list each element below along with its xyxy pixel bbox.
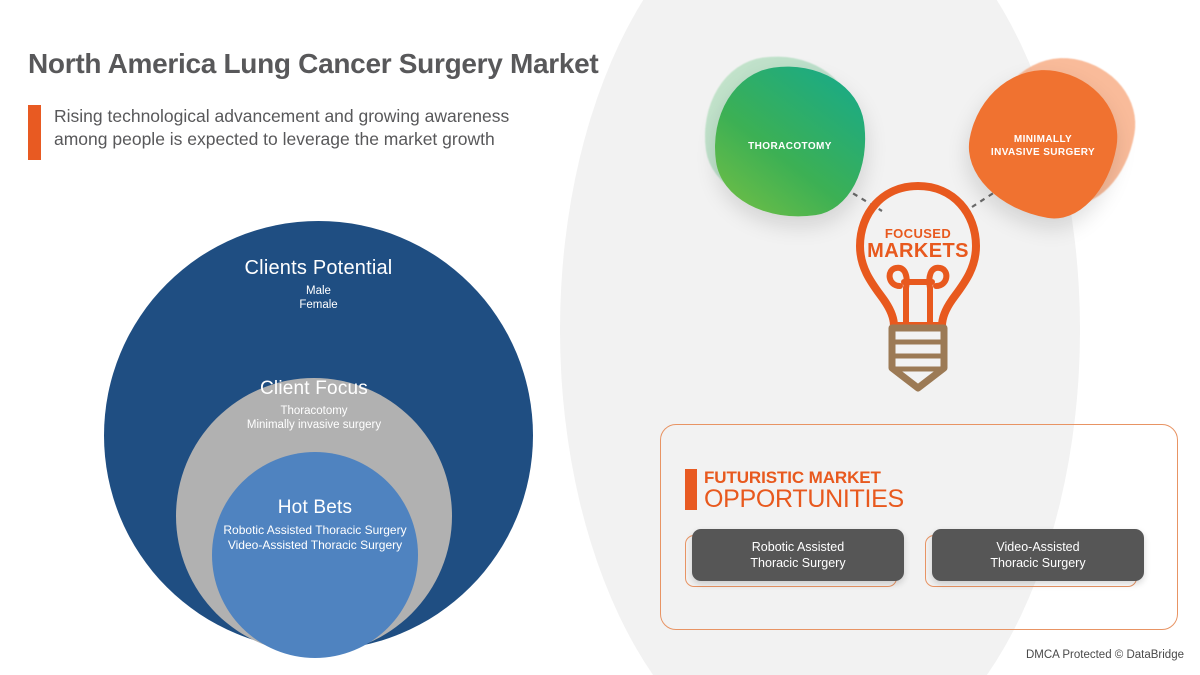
pill-text-line2: Thoracic Surgery bbox=[990, 555, 1085, 571]
hot-bets-title: Hot Bets bbox=[204, 497, 426, 519]
blob-mis-label-line1: MINIMALLY bbox=[970, 133, 1116, 146]
pill-body[interactable]: Video-Assisted Thoracic Surgery bbox=[932, 529, 1144, 581]
hot-bets-circle: Hot Bets Robotic Assisted Thoracic Surge… bbox=[212, 452, 418, 658]
panel-heading-text: FUTURISTIC MARKET OPPORTUNITIES bbox=[704, 469, 904, 512]
blob-mis-label: MINIMALLY INVASIVE SURGERY bbox=[970, 133, 1116, 159]
list-item: Video-Assisted Thoracic Surgery bbox=[204, 538, 426, 553]
panel-accent-bar-icon bbox=[685, 469, 697, 510]
subtitle-block: Rising technological advancement and gro… bbox=[28, 105, 554, 160]
blob-mis-label-line2: INVASIVE SURGERY bbox=[970, 146, 1116, 159]
client-focus-items: Thoracotomy Minimally invasive surgery bbox=[158, 404, 470, 432]
pill-text-line1: Video-Assisted bbox=[990, 539, 1085, 555]
clients-potential-text: Clients Potential Male Female bbox=[104, 257, 533, 312]
infographic-canvas: North America Lung Cancer Surgery Market… bbox=[0, 0, 1200, 675]
hot-bets-items: Robotic Assisted Thoracic Surgery Video-… bbox=[204, 523, 426, 553]
list-item: Minimally invasive surgery bbox=[158, 418, 470, 432]
hot-bets-text: Hot Bets Robotic Assisted Thoracic Surge… bbox=[204, 497, 426, 553]
panel-heading: FUTURISTIC MARKET OPPORTUNITIES bbox=[685, 469, 904, 512]
pill-text-line2: Thoracic Surgery bbox=[750, 555, 845, 571]
list-item: Thoracotomy bbox=[158, 404, 470, 418]
futuristic-market-opportunities-panel: FUTURISTIC MARKET OPPORTUNITIES Robotic … bbox=[660, 424, 1178, 630]
clients-potential-title: Clients Potential bbox=[104, 257, 533, 280]
client-focus-title: Client Focus bbox=[158, 378, 470, 400]
list-item: Robotic Assisted Thoracic Surgery bbox=[204, 523, 426, 538]
focused-markets-lightbulb[interactable]: FOCUSED MARKETS bbox=[848, 178, 988, 403]
lightbulb-label-line1: FOCUSED bbox=[848, 226, 988, 241]
accent-bar-icon bbox=[28, 105, 41, 160]
blob-thoracotomy-label: THORACOTOMY bbox=[714, 140, 866, 153]
pill-text: Video-Assisted Thoracic Surgery bbox=[990, 539, 1085, 571]
client-focus-text: Client Focus Thoracotomy Minimally invas… bbox=[158, 378, 470, 432]
lightbulb-icon bbox=[848, 178, 988, 398]
panel-heading-line2: OPPORTUNITIES bbox=[704, 486, 904, 512]
list-item: Male bbox=[104, 284, 533, 298]
clients-potential-items: Male Female bbox=[104, 284, 533, 312]
pill-body[interactable]: Robotic Assisted Thoracic Surgery bbox=[692, 529, 904, 581]
blob-thoracotomy[interactable]: THORACOTOMY bbox=[700, 62, 868, 230]
subtitle-text: Rising technological advancement and gro… bbox=[54, 105, 554, 150]
pill-text-line1: Robotic Assisted bbox=[750, 539, 845, 555]
footer-copyright: DMCA Protected © DataBridge bbox=[1026, 649, 1184, 661]
list-item: Female bbox=[104, 298, 533, 312]
page-title: North America Lung Cancer Surgery Market bbox=[28, 48, 598, 80]
lightbulb-label-line2: MARKETS bbox=[848, 240, 988, 263]
pill-text: Robotic Assisted Thoracic Surgery bbox=[750, 539, 845, 571]
